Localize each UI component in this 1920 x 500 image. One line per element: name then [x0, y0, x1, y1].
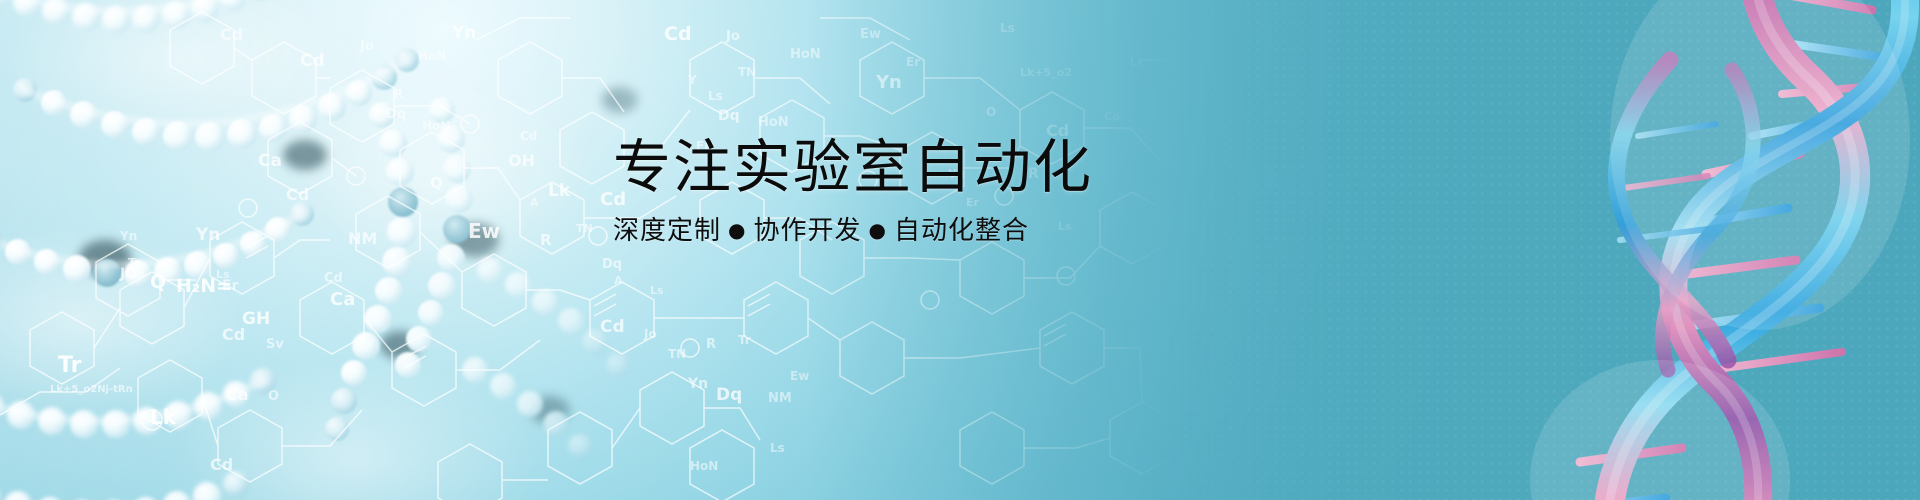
hero-banner: Tr Lk Ca Q JO Tr H₂N= GH Ca Yn Lk+5_o2Nj… — [0, 0, 1920, 500]
subtitle-part-2: 协作开发 — [753, 216, 861, 246]
svg-text:Ls: Ls — [708, 89, 723, 103]
svg-text:Cd: Cd — [1104, 110, 1120, 123]
svg-text:Yn: Yn — [451, 23, 476, 43]
svg-text:Jo: Jo — [359, 39, 374, 54]
svg-text:Dq: Dq — [602, 257, 622, 272]
svg-text:HoN: HoN — [758, 115, 789, 130]
subtitle-part-1: 深度定制 — [613, 216, 721, 246]
svg-text:Ca: Ca — [330, 289, 355, 310]
svg-text:A: A — [614, 274, 623, 287]
svg-text:Dq: Dq — [386, 107, 406, 122]
bullet-separator-icon: ● — [861, 218, 893, 242]
color-dna-helix-graphic — [1520, 0, 1920, 500]
svg-text:Yn: Yn — [687, 376, 708, 392]
bullet-separator-icon: ● — [721, 218, 753, 242]
svg-text:Lk: Lk — [150, 405, 177, 429]
svg-text:Q: Q — [150, 271, 166, 293]
svg-text:Lk: Lk — [1130, 56, 1145, 69]
svg-text:Jo: Jo — [725, 29, 740, 44]
svg-text:O: O — [986, 105, 996, 119]
svg-text:GH: GH — [242, 309, 270, 329]
svg-text:Sv: Sv — [266, 337, 284, 352]
svg-text:Cd: Cd — [222, 325, 245, 344]
svg-text:Cd: Cd — [220, 25, 243, 44]
svg-text:HoN: HoN — [418, 49, 446, 63]
svg-text:Ew: Ew — [468, 219, 500, 243]
svg-text:Cd: Cd — [664, 23, 692, 45]
svg-text:Cd: Cd — [286, 185, 309, 204]
svg-text:O: O — [268, 389, 279, 404]
svg-text:NM: NM — [348, 229, 377, 248]
svg-text:Lk: Lk — [548, 181, 571, 201]
svg-text:R: R — [706, 337, 716, 352]
svg-text:Lk+5_o2Nj-tRn: Lk+5_o2Nj-tRn — [50, 384, 133, 395]
svg-text:A: A — [530, 196, 539, 209]
svg-text:TN: TN — [738, 65, 756, 79]
svg-text:TN: TN — [668, 347, 686, 361]
svg-text:Cd: Cd — [520, 129, 537, 143]
svg-text:Cd: Cd — [210, 455, 233, 474]
svg-text:Ls: Ls — [650, 284, 664, 297]
svg-text:Er: Er — [906, 55, 920, 69]
svg-text:Q: Q — [430, 174, 443, 192]
svg-text:Yn: Yn — [119, 229, 137, 243]
svg-text:Ca: Ca — [226, 385, 249, 404]
svg-text:OH: OH — [508, 151, 535, 170]
svg-text:HoN: HoN — [790, 47, 821, 62]
svg-text:Dq: Dq — [718, 108, 740, 124]
svg-text:Tr: Tr — [128, 256, 140, 269]
svg-text:Yn: Yn — [195, 225, 220, 245]
svg-text:Cd: Cd — [600, 317, 625, 337]
svg-text:Tr: Tr — [738, 333, 751, 347]
svg-text:Cd: Cd — [324, 271, 343, 286]
chemical-structure-overlay: Tr Lk Ca Q JO Tr H₂N= GH Ca Yn Lk+5_o2Nj… — [0, 0, 1180, 500]
svg-text:Jo: Jo — [643, 327, 657, 341]
subtitle-part-3: 自动化整合 — [894, 216, 1029, 246]
svg-text:TN: TN — [576, 222, 593, 235]
svg-text:Dq: Dq — [716, 385, 742, 405]
svg-text:Ew: Ew — [790, 369, 809, 383]
banner-headline: 专注实验室自动化 — [613, 138, 1083, 196]
svg-text:NM: NM — [768, 391, 792, 406]
svg-text:Tr: Tr — [58, 353, 82, 378]
svg-text:Lk+5_o2: Lk+5_o2 — [1020, 66, 1072, 79]
svg-text:Y: Y — [687, 73, 697, 87]
banner-text-block: 专注实验室自动化 深度定制●协作开发●自动化整合 — [613, 138, 1083, 244]
svg-text:Ls: Ls — [1000, 21, 1015, 35]
svg-text:Ew: Ew — [860, 27, 881, 42]
svg-text:Cd: Cd — [300, 51, 325, 71]
svg-text:Ca: Ca — [258, 151, 282, 171]
svg-text:R: R — [394, 87, 403, 101]
banner-subtitle: 深度定制●协作开发●自动化整合 — [613, 218, 1083, 244]
svg-text:R: R — [540, 231, 552, 249]
svg-text:HoN: HoN — [690, 459, 718, 473]
svg-text:Yn: Yn — [875, 72, 902, 93]
svg-text:HoN: HoN — [422, 119, 450, 133]
svg-text:Ls: Ls — [770, 441, 785, 455]
svg-text:Ls: Ls — [216, 268, 230, 281]
